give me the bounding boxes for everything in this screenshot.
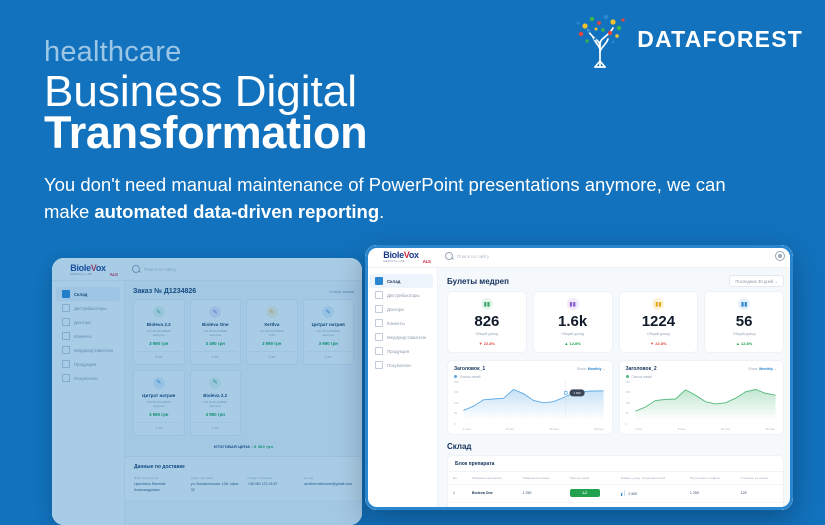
cell-monthly: 125	[736, 502, 783, 510]
y-tick: 50	[454, 411, 459, 415]
dashboard-topbar: BioleVoxMEDICAL LABALS Поиск по сайту	[365, 245, 793, 268]
product-qty: 1 шт	[307, 351, 351, 359]
table-header-cell: No.	[448, 471, 467, 484]
sidebar-item-label: Склад	[74, 292, 87, 297]
sidebar-item-1[interactable]: Дистрибьюторы	[369, 288, 433, 302]
cell-reps: 14 340	[616, 502, 685, 510]
buyers-icon	[375, 361, 383, 369]
chart-plot: 200150100500 1 000	[454, 380, 606, 426]
kpi-card-3[interactable]: ▮▮ 56 Общий доход ▲ 12.8%	[704, 291, 784, 353]
x-tick: 1 Сен	[463, 427, 471, 431]
sidebar-item-2[interactable]: Доктора	[369, 302, 433, 316]
table-row[interactable]: 2 Bioleva 2.2 2 250 5-7 14 340 1 250 125	[448, 502, 783, 510]
chart-show-selector[interactable]: Show: Monthly ⌄	[577, 367, 606, 371]
product-meta: ОО № 61234828капсулы	[137, 329, 181, 338]
table-header-cell: Уточнено за месяц	[736, 471, 783, 484]
pill-icon: ✎	[209, 377, 221, 389]
warehouse-title: Склад	[438, 435, 793, 455]
dashboard-section-title: Булеты медреп	[447, 277, 509, 286]
search-icon	[132, 265, 140, 273]
hero-subtitle: You don't need manual maintenance of Pow…	[44, 172, 744, 226]
product-meta: ОО № 61234828Туби	[250, 329, 294, 338]
legend-label: Список линий	[632, 375, 652, 379]
svg-text:1 000: 1 000	[574, 390, 581, 394]
product-name: Bioleva 2.2	[137, 322, 181, 327]
bar-chart-icon	[621, 509, 626, 510]
order-content: Заказ № Д1234826 Статус заказа ✎ Bioleva…	[125, 281, 362, 525]
product-price: 3 990 грн	[307, 341, 351, 346]
delivery-field: Номер телефона +38 060 123 45 67	[248, 476, 297, 493]
warehouse-icon	[375, 277, 383, 285]
product-name: Цитрат натрия	[307, 322, 351, 327]
chart-show-selector[interactable]: Show: Monthly ⌄	[748, 367, 777, 371]
app-logo-sub: MEDICAL LAB	[70, 273, 105, 276]
hero-subtitle-strong: automated data-driven reporting	[94, 201, 379, 222]
delivery-field-label: ФИО получателя	[134, 476, 183, 480]
bottle-icon: ✎	[322, 306, 334, 318]
product-price: 3 990 грн	[250, 341, 294, 346]
sidebar-item-4[interactable]: Медпредставители	[56, 343, 120, 357]
delivery-field-value: Цыпленко Евгений Александрович	[134, 482, 183, 493]
pill-icon: ✎	[209, 306, 221, 318]
product-card[interactable]: ✎ Xertlva ОО № 61234828Туби 3 990 грн 2 …	[246, 299, 298, 365]
x-tick: 30 Сен	[594, 427, 603, 431]
doctor-icon	[62, 318, 70, 326]
order-title: Заказ № Д1234826	[133, 288, 196, 295]
sidebar-item-label: Доктора	[387, 307, 404, 312]
kpi-value: 1.6k	[537, 314, 609, 329]
forecast-badge: 1-2	[570, 489, 600, 497]
y-tick: 0	[626, 422, 631, 426]
chart-card-1: Заголовок_2 Show: Monthly ⌄ Список линий…	[619, 360, 785, 435]
chart-title: Заголовок_1	[454, 366, 485, 372]
sidebar-item-label: Клиенты	[387, 321, 405, 326]
warehouse-icon	[62, 290, 70, 298]
warehouse-table: No.Название препаратаТоваров на складеПр…	[448, 471, 783, 511]
app-logo: BioleVoxMEDICAL LABALS	[365, 250, 437, 263]
sidebar-item-0[interactable]: Склад	[369, 274, 433, 288]
kpi-label: Общий доход	[451, 332, 523, 336]
product-qty: 1 шт	[194, 351, 238, 359]
product-qty: 1 шт	[137, 422, 181, 430]
table-header-row: No.Название препаратаТоваров на складеПр…	[448, 471, 783, 484]
delivery-field-value: ул. Вознесенская, 138, офис 32	[191, 482, 240, 493]
kpi-value: 826	[451, 314, 523, 329]
tree-logo-icon	[569, 10, 631, 68]
chart-legend: Список линий	[454, 375, 606, 379]
delivery-block: Данные по доставке ФИО получателя Цыплен…	[125, 456, 362, 500]
product-name: Xertlva	[250, 322, 294, 327]
doctor-icon	[375, 305, 383, 313]
sidebar-item-label: Медпредставители	[74, 348, 113, 353]
product-meta: ОО № 61234828капсулы	[194, 400, 238, 409]
search-placeholder: Поиск по сайту	[144, 267, 176, 272]
table-header-cell: Название препарата	[467, 471, 518, 484]
product-name: Bioleva One	[194, 322, 238, 327]
medrep-icon	[62, 346, 70, 354]
legend-dot-icon	[626, 375, 629, 378]
kpi-card-1[interactable]: ▮▮ 1.6k Общий доход ▲ 12.8%	[533, 291, 613, 353]
search-placeholder: Поиск по сайту	[457, 254, 489, 259]
product-name: Цитрат натрия	[137, 393, 181, 398]
product-card[interactable]: ✎ Цитрат натрия ОО № 61234828капсулы 3 9…	[303, 299, 355, 365]
distributor-icon	[62, 304, 70, 312]
legend-dot-icon	[454, 375, 457, 378]
clients-icon	[62, 332, 70, 340]
kpi-delta: ▼ 22.8%	[623, 341, 695, 346]
delivery-field-label: Номер телефона	[248, 476, 297, 480]
forecast-badge: 5-7	[570, 507, 600, 510]
chart-row: Заголовок_1 Show: Monthly ⌄ Список линий…	[438, 353, 793, 435]
dataforest-logo: DATAFOREST	[569, 10, 803, 68]
buyers-icon	[62, 374, 70, 382]
legend-label: Список линий	[460, 375, 480, 379]
bar-chart-icon: ▮▮	[481, 298, 493, 310]
sidebar-item-2[interactable]: Доктора	[56, 315, 120, 329]
medrep-icon	[375, 333, 383, 341]
product-qty: 2 шт	[250, 351, 294, 359]
product-icon	[62, 360, 70, 368]
product-qty: 3 шт	[137, 351, 181, 359]
sidebar-item-5[interactable]: Продукция	[56, 357, 120, 371]
y-tick: 50	[626, 411, 631, 415]
y-axis-ticks: 200150100500	[454, 380, 459, 426]
x-tick: 16 Сен	[721, 427, 730, 431]
sidebar-item-label: Покупатели	[74, 376, 98, 381]
sidebar-item-0[interactable]: Склад	[56, 287, 120, 301]
hero-subtitle-part2: .	[379, 201, 384, 222]
y-axis-ticks: 200150100500	[626, 380, 631, 426]
delivery-field: Адрес доставки ул. Вознесенская, 138, оф…	[191, 476, 240, 493]
app-logo-tag: ALS	[423, 259, 431, 264]
order-topbar: BioleVoxMEDICAL LABALS Поиск по сайту	[52, 258, 362, 281]
sidebar-item-3[interactable]: Клиенты	[56, 329, 120, 343]
x-tick: 30 Сен	[766, 427, 775, 431]
search-input[interactable]: Поиск по сайту	[124, 265, 362, 273]
dashboard-mockup: BioleVoxMEDICAL LABALS Поиск по сайту Ск…	[365, 245, 793, 510]
product-card[interactable]: ✎ Bioleva 2.2 ОО № 61234828капсулы 3 990…	[133, 299, 185, 365]
slide-canvas: DATAFOREST healthcare Business Digital T…	[0, 0, 825, 525]
delivery-field: ФИО получателя Цыпленко Евгений Александ…	[134, 476, 183, 493]
sidebar-item-label: Медпредставители	[387, 335, 426, 340]
cell-no: 1	[448, 484, 467, 502]
product-card[interactable]: ✎ Цитрат натрия ОО № 61234828капсулы 3 9…	[133, 370, 185, 436]
cell-reps: 2 500	[616, 484, 685, 502]
kpi-label: Общий доход	[623, 332, 695, 336]
product-price: 3 990 грн	[137, 341, 181, 346]
table-row[interactable]: 1 Bioleva One 1 250 1-2 2 500 1 250 125	[448, 484, 783, 502]
product-meta: ОО № 61234828капсулы	[137, 400, 181, 409]
clients-icon	[375, 319, 383, 327]
warehouse-table-card: Блок препарата No.Название препаратаТова…	[447, 455, 784, 511]
bar-chart-icon: ▮▮	[738, 298, 750, 310]
order-total-label: ИТОГОВАЯ ЦЕНА :	[214, 444, 253, 449]
x-axis-ticks: 1 Сен8 Сен16 Сен30 Сен	[454, 426, 606, 431]
product-card[interactable]: ✎ Bioleva 2.2 ОО № 61234828капсулы 3 990…	[190, 370, 242, 436]
order-total: ИТОГОВАЯ ЦЕНА : 8 560 грн	[125, 436, 362, 456]
search-icon	[445, 252, 453, 260]
sidebar-item-6[interactable]: Покупатели	[369, 358, 433, 372]
table-title: Блок препарата	[448, 456, 783, 471]
sidebar-item-label: Клиенты	[74, 334, 92, 339]
sidebar-item-5[interactable]: Продукция	[369, 344, 433, 358]
product-price: 3 990 грн	[137, 412, 181, 417]
sidebar-item-4[interactable]: Медпредставители	[369, 330, 433, 344]
y-tick: 150	[626, 390, 631, 394]
x-tick: 1 Сен	[635, 427, 643, 431]
hero-kicker: healthcare	[44, 36, 181, 69]
kpi-delta: ▼ 22.8%	[451, 341, 523, 346]
table-header-cell: Прогноз дней	[565, 471, 616, 484]
kpi-card-0[interactable]: ▮▮ 826 Общий доход ▼ 22.8%	[447, 291, 527, 353]
y-tick: 0	[454, 422, 459, 426]
bar-chart-icon: ▮▮	[567, 298, 579, 310]
pill-icon: ✎	[153, 306, 165, 318]
cell-forecast: 5-7	[565, 502, 616, 510]
kpi-delta: ▲ 12.8%	[537, 341, 609, 346]
cell-name: Bioleva 2.2	[467, 502, 518, 510]
sidebar-item-label: Доктора	[74, 320, 91, 325]
chart-legend: Список линий	[626, 375, 778, 379]
y-tick: 150	[454, 390, 459, 394]
search-input[interactable]: Поиск по сайту	[437, 252, 775, 260]
app-logo-tag: ALS	[110, 272, 118, 277]
product-price: 3 990 грн	[194, 412, 238, 417]
chart-plot: 200150100500	[626, 380, 778, 426]
order-status-chip[interactable]: Статус заказа	[329, 290, 354, 294]
dashboard-sidebar: Склад Дистрибьюторы Доктора Клиенты Медп…	[365, 268, 438, 510]
y-tick: 100	[626, 401, 631, 405]
bottle-icon: ✎	[153, 377, 165, 389]
kpi-label: Общий доход	[708, 332, 780, 336]
distributor-icon	[375, 291, 383, 299]
product-meta: ОО № 61234828капсулы	[194, 329, 238, 338]
kpi-label: Общий доход	[537, 332, 609, 336]
period-label: Последние 30 дней	[735, 279, 773, 284]
sidebar-item-label: Дистрибьюторы	[74, 306, 107, 311]
period-selector[interactable]: Последние 30 дней ⌄	[729, 275, 784, 287]
hero-title-line2: Transformation	[44, 110, 367, 155]
order-product-grid-row2: ✎ Цитрат натрия ОО № 61234828капсулы 3 9…	[125, 370, 362, 436]
product-name: Bioleva 2.2	[194, 393, 238, 398]
sidebar-item-label: Склад	[387, 279, 400, 284]
delivery-field: E-mail anothermailname@gmail.com	[304, 476, 353, 493]
order-total-value: 8 560 грн	[254, 444, 273, 449]
app-logo: BioleVoxMEDICAL LABALS	[52, 263, 124, 276]
order-product-grid-row1: ✎ Bioleva 2.2 ОО № 61234828капсулы 3 990…	[125, 299, 362, 365]
y-tick: 200	[626, 380, 631, 384]
product-price: 3 490 грн	[194, 341, 238, 346]
cell-stock: 2 250	[518, 502, 565, 510]
x-tick: 16 Сен	[549, 427, 558, 431]
kpi-grid: ▮▮ 826 Общий доход ▼ 22.8% ▮▮ 1.6k Общий…	[438, 291, 793, 353]
table-header-cell: Неучтенных товаров	[685, 471, 736, 484]
delivery-title: Данные по доставке	[134, 464, 353, 470]
bar-chart-icon	[621, 491, 626, 496]
product-meta: ОО № 61234828капсулы	[307, 329, 351, 338]
capsule-icon: ✎	[266, 306, 278, 318]
kpi-delta: ▲ 12.8%	[708, 341, 780, 346]
sidebar-item-3[interactable]: Клиенты	[369, 316, 433, 330]
y-tick: 200	[454, 380, 459, 384]
sidebar-item-6[interactable]: Покупатели	[56, 371, 120, 385]
chart-card-0: Заголовок_1 Show: Monthly ⌄ Список линий…	[447, 360, 613, 435]
delivery-field-label: E-mail	[304, 476, 353, 480]
order-screen-mockup: BioleVoxMEDICAL LABALS Поиск по сайту Ск…	[52, 258, 362, 525]
order-sidebar: Склад Дистрибьюторы Доктора Клиенты Медп…	[52, 281, 125, 525]
sidebar-item-1[interactable]: Дистрибьюторы	[56, 301, 120, 315]
table-header-cell: Товары у мед. представителей	[616, 471, 685, 484]
cell-monthly: 125	[736, 484, 783, 502]
logo-wordmark: DATAFOREST	[637, 26, 803, 53]
x-axis-ticks: 1 Сен8 Сен16 Сен30 Сен	[626, 426, 778, 431]
cell-unaccounted: 1 250	[685, 484, 736, 502]
delivery-field-value: anothermailname@gmail.com	[304, 482, 353, 487]
kpi-card-2[interactable]: ▮▮ 1224 Общий доход ▼ 22.8%	[619, 291, 699, 353]
product-qty: 1 шт	[194, 422, 238, 430]
bar-chart-icon: ▮▮	[652, 298, 664, 310]
table-header-cell: Товаров на складе	[518, 471, 565, 484]
cell-name: Bioleva One	[467, 484, 518, 502]
product-card[interactable]: ✎ Bioleva One ОО № 61234828капсулы 3 490…	[190, 299, 242, 365]
cell-stock: 1 250	[518, 484, 565, 502]
product-icon	[375, 347, 383, 355]
sidebar-item-label: Продукция	[387, 349, 409, 354]
dashboard-content: Булеты медреп Последние 30 дней ⌄ ▮▮ 826…	[438, 268, 793, 510]
x-tick: 8 Сен	[678, 427, 686, 431]
cell-unaccounted: 1 250	[685, 502, 736, 510]
x-tick: 8 Сен	[506, 427, 514, 431]
delivery-field-label: Адрес доставки	[191, 476, 240, 480]
delivery-field-value: +38 060 123 45 67	[248, 482, 297, 487]
sidebar-item-label: Покупатели	[387, 363, 411, 368]
cell-no: 2	[448, 502, 467, 510]
sidebar-item-label: Дистрибьюторы	[387, 293, 420, 298]
y-tick: 100	[454, 401, 459, 405]
cell-forecast: 1-2	[565, 484, 616, 502]
sidebar-item-label: Продукция	[74, 362, 96, 367]
kpi-value: 56	[708, 314, 780, 329]
kpi-value: 1224	[623, 314, 695, 329]
gear-icon[interactable]	[775, 251, 785, 261]
chart-title: Заголовок_2	[626, 366, 657, 372]
app-logo-sub: MEDICAL LAB	[383, 260, 418, 263]
